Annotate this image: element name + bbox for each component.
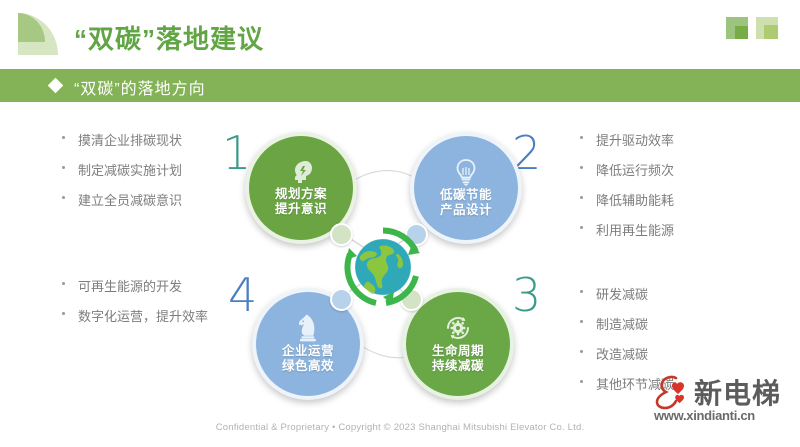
circle-1-label: 规划方案提升意识 — [275, 187, 327, 218]
watermark-url: www.xindianti.cn — [654, 408, 755, 423]
circle-4-label: 企业运营绿色高效 — [282, 344, 334, 375]
list-item: 降低运行频次 — [578, 160, 674, 179]
xindianti-heart-logo-icon — [652, 374, 692, 410]
logo-square-right — [756, 17, 778, 39]
list-item: 可再生能源的开发 — [60, 276, 208, 295]
list-item: 研发减碳 — [578, 284, 674, 303]
head-brain-idea-icon — [286, 159, 316, 185]
circle-2[interactable]: 低碳节能产品设计 — [410, 132, 522, 244]
watermark-name: 新电梯 — [694, 372, 781, 412]
cycle-diagram: 规划方案提升意识 低碳节能产品设计 — [230, 120, 560, 410]
list-item: 摸清企业排碳现状 — [60, 130, 182, 149]
chess-knight-icon — [297, 314, 319, 342]
lightbulb-icon — [453, 158, 479, 186]
logo-square-right-inner — [764, 25, 778, 39]
list-item: 数字化运营，提升效率 — [60, 306, 208, 325]
section-header-bar: “双碳”的落地方向 — [0, 69, 800, 102]
diamond-bullet-icon — [48, 78, 64, 94]
list-item: 制造减碳 — [578, 314, 674, 333]
gear-recycle-icon — [444, 314, 472, 342]
list-item: 制定减碳实施计划 — [60, 160, 182, 179]
section-title: “双碳”的落地方向 — [74, 75, 206, 99]
bullet-list-top-left: 摸清企业排碳现状 制定减碳实施计划 建立全员减碳意识 — [60, 130, 182, 220]
bullet-list-top-right: 提升驱动效率 降低运行频次 降低辅助能耗 利用再生能源 — [578, 130, 674, 250]
logo-square-left-inner — [735, 26, 748, 39]
leaf-quarter-icon — [18, 13, 58, 55]
watermark: 新电梯 www.xindianti.cn — [652, 372, 794, 438]
globe-recycle-icon — [340, 224, 426, 310]
leaf-inner-shape — [18, 13, 45, 42]
page-title: “双碳”落地建议 — [74, 19, 264, 56]
bullet-list-bottom-left: 可再生能源的开发 数字化运营，提升效率 — [60, 276, 208, 336]
two-squares-logo-icon — [726, 17, 778, 41]
logo-square-left — [726, 17, 748, 39]
circle-3-label: 生命周期持续减碳 — [432, 344, 484, 375]
list-item: 利用再生能源 — [578, 220, 674, 239]
list-item: 建立全员减碳意识 — [60, 190, 182, 209]
slide-root: “双碳”落地建议 “双碳”的落地方向 摸清企业排碳现状 制定减碳实施计划 建立全… — [0, 0, 800, 447]
circle-2-label: 低碳节能产品设计 — [440, 188, 492, 219]
list-item: 降低辅助能耗 — [578, 190, 674, 209]
list-item: 改造减碳 — [578, 344, 674, 363]
list-item: 提升驱动效率 — [578, 130, 674, 149]
